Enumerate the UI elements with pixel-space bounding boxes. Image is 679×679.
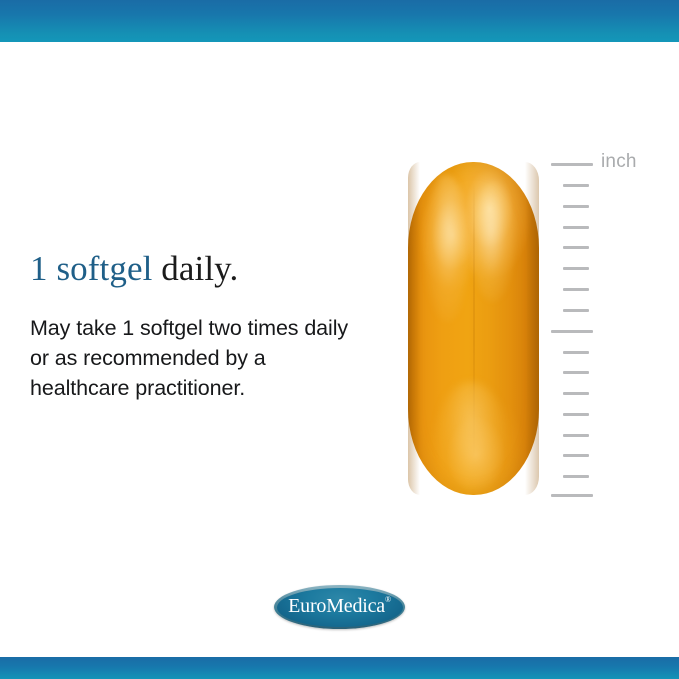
ruler-tick-minor xyxy=(563,434,589,437)
capsule-highlight-right xyxy=(471,182,516,302)
ruler-tick-minor xyxy=(563,288,589,291)
capsule-highlight-bottom xyxy=(437,382,505,489)
logo-wordmark-text: EuroMedica xyxy=(288,595,385,617)
ruler-tick-minor xyxy=(563,246,589,249)
dosage-copy-block: 1 softgel daily. May take 1 softgel two … xyxy=(30,248,370,403)
capsule-left-shade xyxy=(408,162,420,495)
dosage-body-text: May take 1 softgel two times daily or as… xyxy=(30,313,370,403)
ruler-tick-minor xyxy=(563,351,589,354)
dosage-headline: 1 softgel daily. xyxy=(30,248,370,290)
softgel-capsule xyxy=(408,162,539,495)
dosage-headline-rest: daily. xyxy=(152,249,238,288)
ruler-tick-major xyxy=(551,494,593,497)
inch-ruler: inch xyxy=(551,163,679,503)
dosage-headline-accent: 1 softgel xyxy=(30,249,152,288)
ruler-tick-minor xyxy=(563,205,589,208)
ruler-tick-minor xyxy=(563,475,589,478)
ruler-tick-minor xyxy=(563,371,589,374)
registered-trademark-icon: ® xyxy=(385,595,391,604)
top-brand-band xyxy=(0,0,679,42)
logo-face: EuroMedica® xyxy=(277,588,403,627)
ruler-unit-label: inch xyxy=(601,151,637,173)
ruler-tick-minor xyxy=(563,309,589,312)
bottom-brand-band xyxy=(0,657,679,679)
ruler-tick-minor xyxy=(563,392,589,395)
euromedica-logo: EuroMedica® xyxy=(274,585,405,629)
ruler-tick-minor xyxy=(563,226,589,229)
ruler-tick-minor xyxy=(563,267,589,270)
ruler-tick-minor xyxy=(563,184,589,187)
capsule-right-shade xyxy=(525,162,539,495)
ruler-tick-minor xyxy=(563,454,589,457)
ruler-tick-minor xyxy=(563,413,589,416)
ruler-tick-major xyxy=(551,163,593,166)
capsule-body xyxy=(408,162,539,495)
product-detail-image: 1 softgel daily. May take 1 softgel two … xyxy=(0,0,679,679)
capsule-highlight-left xyxy=(424,175,469,322)
logo-wordmark: EuroMedica® xyxy=(288,595,391,618)
ruler-tick-major xyxy=(551,330,593,333)
